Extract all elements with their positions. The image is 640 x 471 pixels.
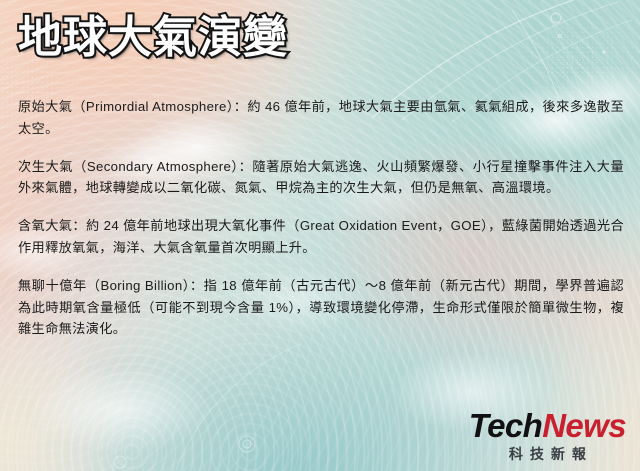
logo-word-news: News — [542, 407, 626, 444]
paragraph-boring-billion: 無聊十億年（Boring Billion）：指 18 億年前（古元古代）～8 億… — [18, 275, 624, 340]
page-title: 地球大氣演變 — [18, 12, 288, 64]
logo-word-tech: Tech — [469, 407, 542, 444]
logo-wordmark: TechNews — [469, 409, 626, 442]
slide-canvas: 地球大氣演變 原始大氣（Primordial Atmosphere）：約 46 … — [0, 0, 640, 471]
body-content: 原始大氣（Primordial Atmosphere）：約 46 億年前，地球大… — [18, 96, 624, 340]
paragraph-primordial-atmosphere: 原始大氣（Primordial Atmosphere）：約 46 億年前，地球大… — [18, 96, 624, 140]
technews-logo: TechNews 科技新報 — [469, 409, 626, 461]
paragraph-oxygenated-atmosphere: 含氧大氣：約 24 億年前地球出現大氧化事件（Great Oxidation E… — [18, 215, 624, 259]
logo-subtitle: 科技新報 — [469, 447, 626, 461]
paragraph-secondary-atmosphere: 次生大氣（Secondary Atmosphere）：隨著原始大氣逃逸、火山頻繁… — [18, 156, 624, 200]
